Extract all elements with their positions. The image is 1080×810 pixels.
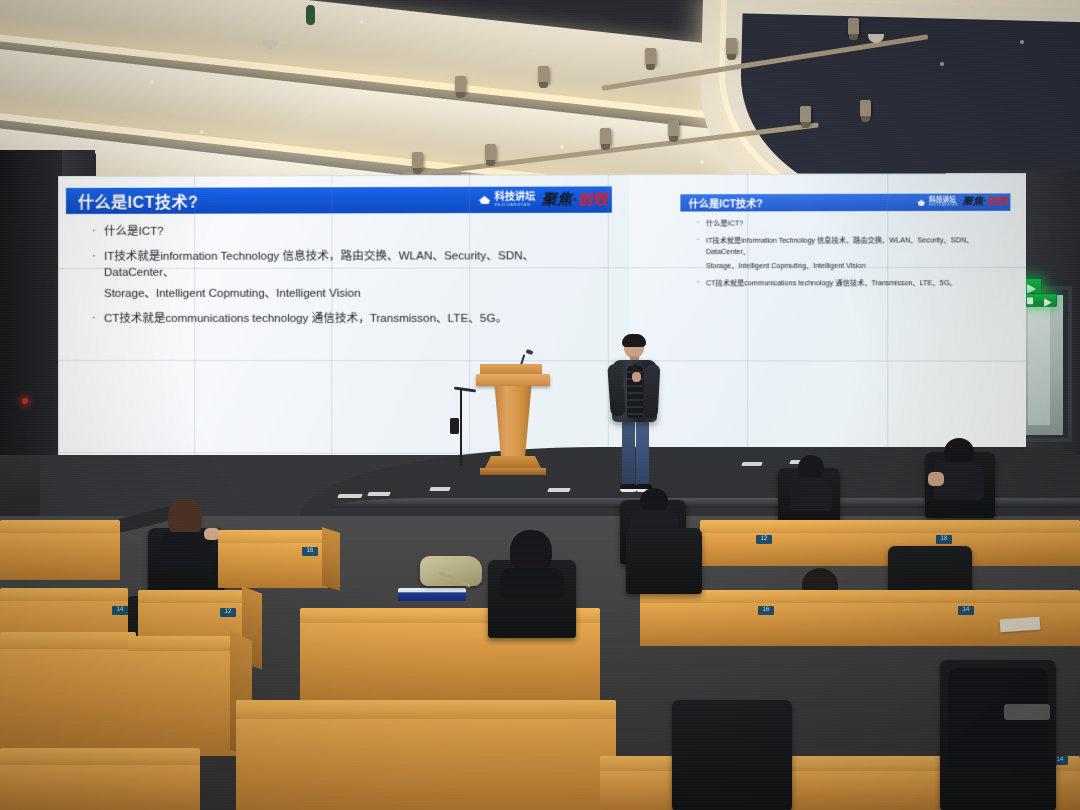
desk-front-row[interactable] xyxy=(236,700,616,810)
spotlight xyxy=(848,18,859,35)
ceiling-downlight xyxy=(940,62,944,66)
spotlight xyxy=(412,152,423,169)
desk-side-panel xyxy=(322,527,340,591)
bullet-marker: · xyxy=(697,278,706,288)
floor-tape-mark xyxy=(337,494,363,498)
bullet-text: IT技术就是information Technology 信息技术，路由交换、W… xyxy=(104,248,606,281)
presenter-hair xyxy=(622,334,646,347)
podium-base-plinth xyxy=(480,468,546,475)
ceiling-downlight xyxy=(700,160,704,164)
spotlight xyxy=(538,66,549,83)
floor-tape-mark xyxy=(367,492,391,496)
ceiling-downlight xyxy=(560,145,564,149)
logo-secondary-red: 创效 xyxy=(577,191,608,208)
bullet-text: CT技术就是communications technology 通信技术，Tra… xyxy=(706,278,957,289)
logo-primary-sub: KEJIJIANGTAN xyxy=(929,204,958,207)
slide-title: 什么是ICT技术? xyxy=(689,195,763,210)
desk-bottom-left[interactable] xyxy=(0,748,200,810)
podium-column xyxy=(492,386,534,460)
audience-member-foreground xyxy=(948,648,1048,768)
slide-bullet: · 什么是ICT? xyxy=(92,223,606,240)
presenter-leg-right xyxy=(636,420,649,486)
slide-logo-group: 科技讲坛 KEJIJIANGTAN 聚焦·创效 xyxy=(478,188,607,211)
juji-chuangxiao-logo: 聚焦·创效 xyxy=(962,197,1007,207)
slide-body: · 什么是ICT? · IT技术就是information Technology… xyxy=(66,213,612,342)
slide-body: · 什么是ICT? · IT技术就是information Technology… xyxy=(680,211,1010,300)
desk-front-panel xyxy=(236,719,616,810)
logo-primary-sub: KEJIJIANGTAN xyxy=(495,203,536,207)
shoulder-bag xyxy=(420,556,482,586)
podium-control-box xyxy=(450,418,459,434)
audience-member-woman xyxy=(160,498,216,568)
spotlight xyxy=(645,48,656,65)
desk-left-edge[interactable] xyxy=(0,520,120,580)
podium-desktop xyxy=(476,374,550,386)
seat-number-label: 16 xyxy=(302,547,318,556)
slide-title-bar: 什么是ICT技术? 科技讲坛 KEJIJIANGTAN 聚焦·创效 xyxy=(66,186,612,214)
exit-sign-icon xyxy=(1021,293,1057,307)
desk-top xyxy=(0,520,120,534)
ceiling xyxy=(0,0,1080,200)
ceiling-sensor xyxy=(306,5,315,25)
seat-number-label: 14 xyxy=(112,606,128,615)
logo-secondary-red: 创效 xyxy=(987,196,1008,207)
bullet-marker: · xyxy=(92,224,104,239)
ceiling-downlight xyxy=(360,20,364,24)
logo-secondary-black: 聚焦· xyxy=(541,191,577,208)
logo-secondary-black: 聚焦· xyxy=(962,196,986,207)
presentation-slide-duplicate: 什么是ICT技术? 科技讲坛 KEJIJIANGTAN 聚焦·创效 xyxy=(680,193,1010,299)
keji-forum-logo: 科技讲坛 KEJIJIANGTAN xyxy=(917,197,959,207)
seat-number-label: 12 xyxy=(220,608,236,617)
person-torso xyxy=(500,568,564,598)
desk-foreground-left[interactable] xyxy=(0,632,136,752)
audience-member xyxy=(788,455,832,507)
desk-top xyxy=(128,636,238,652)
chair-foreground[interactable] xyxy=(672,700,792,810)
desk-top xyxy=(138,590,248,604)
spotlight xyxy=(668,120,679,137)
bullet-continuation: Storage、Intelligent Copmuting、Intelligen… xyxy=(706,261,1006,273)
desk-top xyxy=(236,700,616,720)
person-torso xyxy=(790,477,832,511)
spotlight xyxy=(485,144,496,161)
slide-bullet: · 什么是ICT? xyxy=(697,218,1006,230)
desk-foreground-left-2[interactable] xyxy=(128,636,238,754)
spotlight xyxy=(455,76,466,93)
floor-tape-mark xyxy=(741,462,763,466)
seat-number-label: 18 xyxy=(936,535,952,544)
graduation-cap-icon xyxy=(917,199,926,206)
desk-top xyxy=(0,632,136,650)
desk-front-panel xyxy=(0,649,136,756)
spotlight xyxy=(800,106,811,123)
slide-bullet: · CT技术就是communications technology 通信技术，T… xyxy=(92,311,606,327)
bullet-marker: · xyxy=(92,311,104,326)
presentation-slide-primary: 什么是ICT技术? 科技讲坛 KEJIJIANGTAN 聚焦·创效 xyxy=(66,186,612,342)
slide-title: 什么是ICT技术? xyxy=(78,189,198,213)
desk-front-panel xyxy=(0,533,120,580)
presenter-hand xyxy=(632,372,641,382)
audience-member xyxy=(500,530,564,592)
bullet-text: 什么是ICT? xyxy=(104,224,164,240)
book-on-desk xyxy=(398,588,466,601)
presenter-speaker xyxy=(608,336,660,500)
bullet-marker: · xyxy=(92,249,104,264)
floor-tape-mark xyxy=(547,488,571,492)
slide-bullet: · CT技术就是communications technology 通信技术，T… xyxy=(697,278,1006,289)
desk-front-panel xyxy=(128,651,238,756)
door-glass-panel xyxy=(1028,300,1050,425)
presenter-arm-right xyxy=(643,364,661,419)
person-hand xyxy=(928,472,944,486)
bullet-text: 什么是ICT? xyxy=(706,218,743,229)
bullet-continuation: Storage、Intelligent Copmuting、Intelligen… xyxy=(104,286,606,302)
desk-top xyxy=(0,588,128,602)
bullet-marker: · xyxy=(697,236,706,246)
juji-chuangxiao-logo: 聚焦·创效 xyxy=(541,192,607,207)
desk-top xyxy=(0,748,200,766)
desk-top xyxy=(218,530,328,544)
presenter-leg-left xyxy=(622,420,635,486)
seat-number-label: 12 xyxy=(756,535,772,544)
lectern-podium xyxy=(476,358,550,486)
audience-member xyxy=(932,438,984,496)
bullet-text: IT技术就是information Technology 信息技术，路由交换、W… xyxy=(706,235,1006,258)
desk-left-upper[interactable]: 16 xyxy=(218,530,328,588)
podium-cable xyxy=(460,388,462,466)
bullet-marker: · xyxy=(697,219,706,229)
spotlight xyxy=(600,128,611,145)
chair[interactable] xyxy=(626,528,702,594)
ceiling-downlight xyxy=(200,130,204,134)
desk-top xyxy=(700,520,1080,534)
bag-print-detail xyxy=(1004,704,1050,720)
indicator-light xyxy=(22,398,28,404)
floor-tape-mark xyxy=(429,487,451,491)
lecture-hall-scene: 什么是ICT技术? 科技讲坛 KEJIJIANGTAN 聚焦·创效 xyxy=(0,0,1080,810)
spotlight xyxy=(860,100,871,117)
desk-front-panel xyxy=(0,765,200,810)
seat-number-label: 16 xyxy=(758,606,774,615)
graduation-cap-icon xyxy=(478,195,491,205)
desk-top xyxy=(640,590,1080,604)
slide-logo-group: 科技讲坛 KEJIJIANGTAN 聚焦·创效 xyxy=(917,194,1008,209)
bullet-text: CT技术就是communications technology 通信技术，Tra… xyxy=(104,311,507,327)
paper-sheet xyxy=(1000,617,1041,633)
seat-number-label: 14 xyxy=(958,606,974,615)
ceiling-downlight xyxy=(1020,40,1024,44)
slide-title-bar: 什么是ICT技术? 科技讲坛 KEJIJIANGTAN 聚焦·创效 xyxy=(680,193,1010,211)
spotlight xyxy=(726,38,737,55)
slide-bullet: · IT技术就是information Technology 信息技术，路由交换… xyxy=(92,248,606,281)
ceiling-downlight xyxy=(150,80,154,84)
slide-bullet: · IT技术就是information Technology 信息技术，路由交换… xyxy=(697,235,1006,258)
keji-forum-logo: 科技讲坛 KEJIJIANGTAN xyxy=(478,193,535,207)
